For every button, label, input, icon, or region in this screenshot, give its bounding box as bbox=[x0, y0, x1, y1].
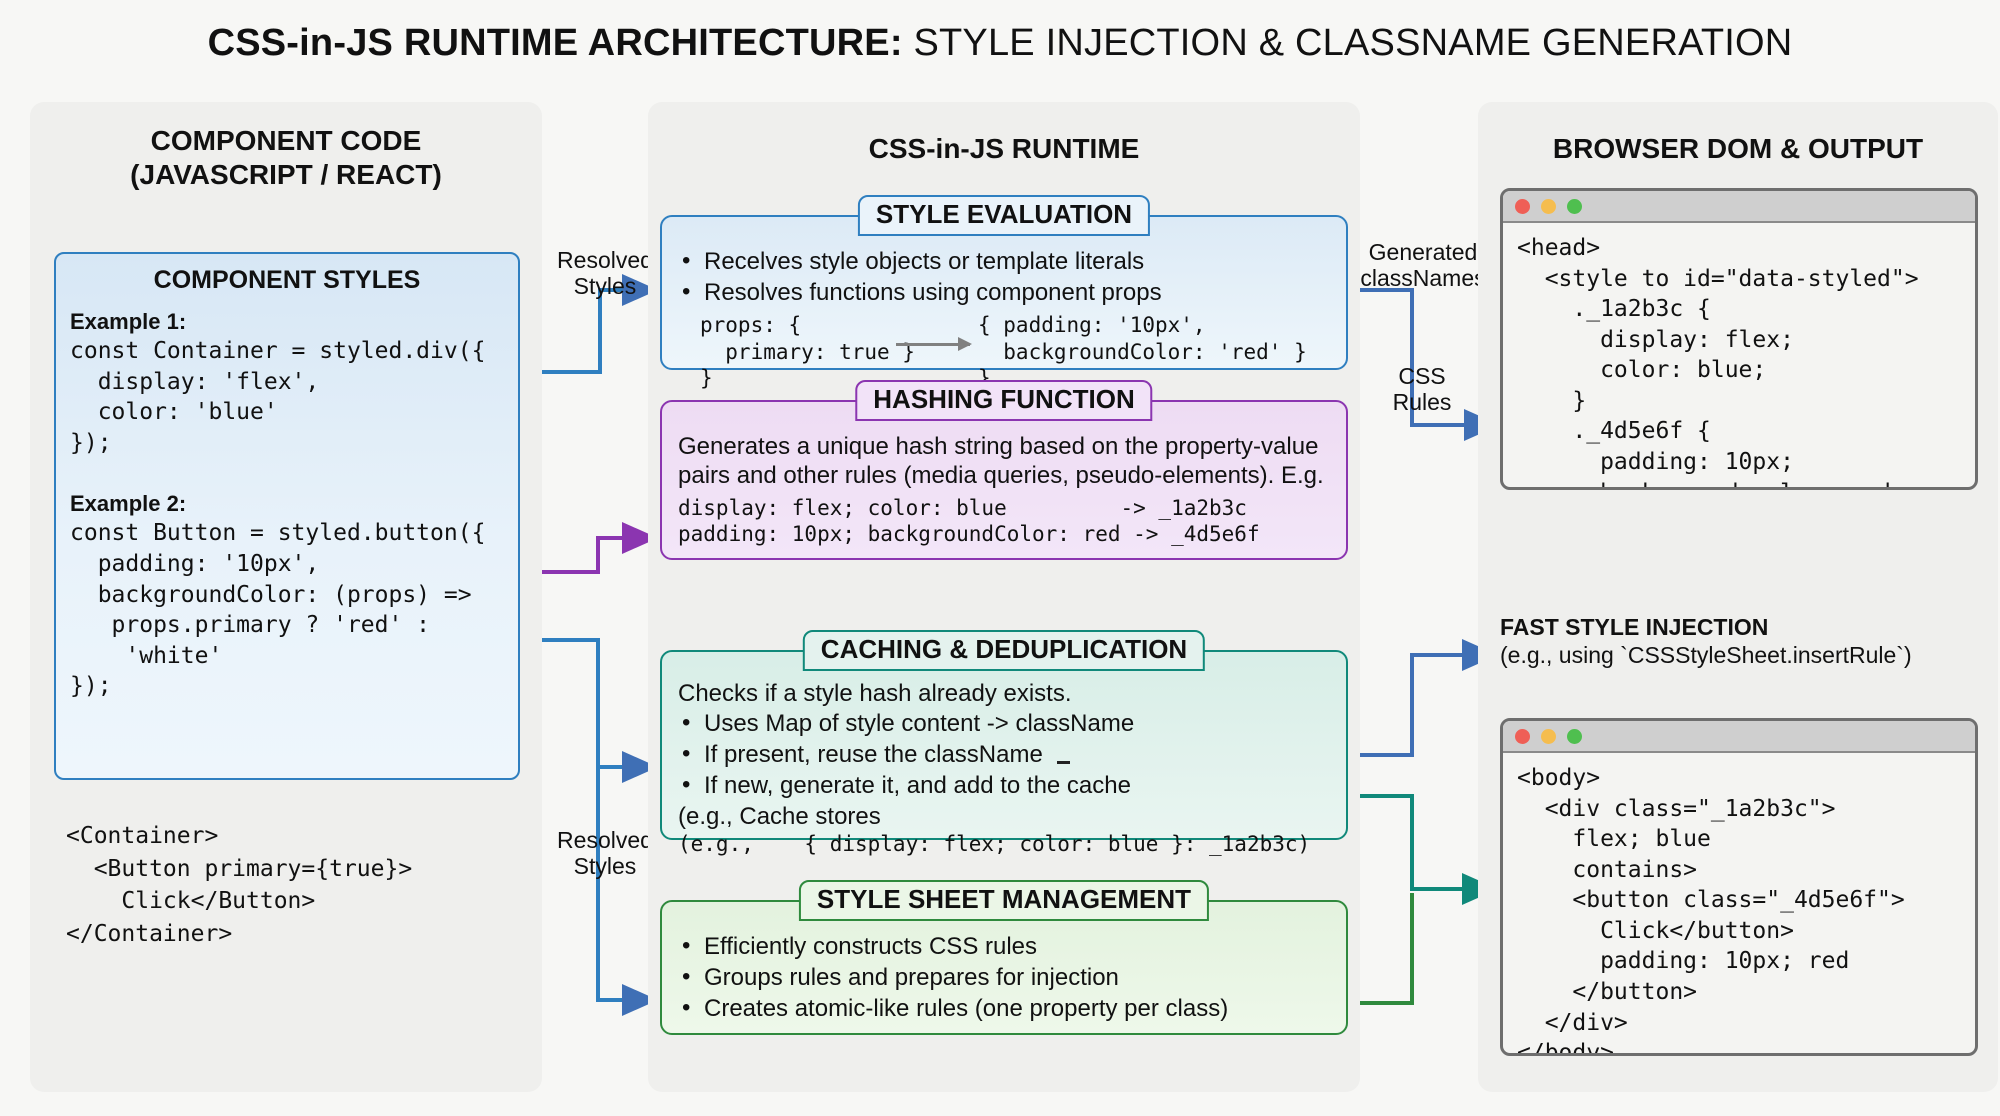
fast-style-injection-subtitle: (e.g., using `CSSStyleSheet.insertRule`) bbox=[1500, 642, 2000, 670]
list-item: Uses Map of style content -> className bbox=[700, 709, 1332, 739]
column-runtime-title: CSS-in-JS RUNTIME bbox=[648, 132, 1360, 166]
transform-arrow-icon bbox=[896, 343, 970, 346]
list-item: Groups rules and prepares for injection bbox=[700, 963, 1332, 993]
wire-label-generated-classnames: GeneratedclassNames bbox=[1348, 240, 1498, 292]
column-browser-output-title: BROWSER DOM & OUTPUT bbox=[1478, 132, 1998, 166]
window-titlebar bbox=[1503, 721, 1975, 753]
browser-window-body: <body> <div class="_1a2b3c"> flex; blue … bbox=[1500, 718, 1978, 1056]
panel-style-sheet-management-title: STYLE SHEET MANAGEMENT bbox=[799, 880, 1209, 921]
panel-caching-bullets: Uses Map of style content -> className I… bbox=[678, 709, 1332, 802]
close-dot-icon[interactable] bbox=[1515, 729, 1530, 744]
caching-note-2: (e.g., { display: flex; color: blue }: _… bbox=[678, 831, 1332, 857]
list-item: Recelves style objects or template liter… bbox=[700, 247, 1332, 277]
page-title: CSS-in-JS RUNTIME ARCHITECTURE: STYLE IN… bbox=[0, 22, 2000, 65]
close-dot-icon[interactable] bbox=[1515, 199, 1530, 214]
panel-style-evaluation-bullets: Recelves style objects or template liter… bbox=[678, 247, 1332, 308]
component-styles-heading: COMPONENT STYLES bbox=[56, 254, 518, 301]
panel-hashing-function: HASHING FUNCTION Generates a unique hash… bbox=[660, 400, 1348, 560]
jsx-usage-code: <Container> <Button primary={true}> Clic… bbox=[66, 820, 412, 951]
wire-label-css-rules: CSSRules bbox=[1362, 364, 1482, 416]
panel-caching-deduplication-title: CACHING & DEDUPLICATION bbox=[803, 630, 1205, 671]
caching-intro: Checks if a style hash already exists. bbox=[678, 680, 1332, 709]
hashing-description: Generates a unique hash string based on … bbox=[678, 432, 1332, 491]
fast-style-injection-note: FAST STYLE INJECTION (e.g., using `CSSSt… bbox=[1500, 614, 2000, 669]
panel-hashing-function-title: HASHING FUNCTION bbox=[855, 380, 1152, 421]
list-item: If new, generate it, and add to the cach… bbox=[700, 771, 1332, 801]
example1-label: Example 1: bbox=[70, 307, 518, 336]
wire-caching-to-fast-injection bbox=[1350, 655, 1492, 755]
page-title-light: STYLE INJECTION & CLASSNAME GENERATION bbox=[903, 22, 1793, 64]
minimize-dot-icon[interactable] bbox=[1541, 199, 1556, 214]
panel-style-evaluation-title: STYLE EVALUATION bbox=[858, 195, 1150, 236]
wire-caching-to-body bbox=[1350, 796, 1492, 889]
body-markup-code: <body> <div class="_1a2b3c"> flex; blue … bbox=[1503, 753, 1975, 1056]
hashing-examples: display: flex; color: blue -> _1a2b3c pa… bbox=[678, 495, 1332, 548]
list-item: Creates atomic-like rules (one property … bbox=[700, 994, 1332, 1024]
list-item: Efficiently constructs CSS rules bbox=[700, 932, 1332, 962]
list-item: Resolves functions using component props bbox=[700, 278, 1332, 308]
list-item: If present, reuse the className bbox=[700, 740, 1332, 770]
example2-code: const Button = styled.button({ padding: … bbox=[70, 520, 485, 699]
component-styles-card: COMPONENT STYLES Example 1:const Contain… bbox=[54, 252, 520, 780]
panel-caching-deduplication: CACHING & DEDUPLICATION Checks if a styl… bbox=[660, 650, 1348, 840]
panel-style-evaluation: STYLE EVALUATION Recelves style objects … bbox=[660, 215, 1348, 370]
column-component-code-title: COMPONENT CODE(JAVASCRIPT / REACT) bbox=[30, 124, 542, 191]
minimize-dot-icon[interactable] bbox=[1541, 729, 1556, 744]
example1-code: const Container = styled.div({ display: … bbox=[70, 338, 485, 456]
maximize-dot-icon[interactable] bbox=[1567, 729, 1582, 744]
strikethrough-artifact bbox=[1057, 761, 1070, 764]
panel-sheet-bullets: Efficiently constructs CSS rules Groups … bbox=[678, 932, 1332, 1025]
wire-styles-to-sheet-management bbox=[598, 767, 652, 1000]
head-markup-code: <head> <style to id="data-styled"> ._1a2… bbox=[1503, 223, 1975, 490]
page-title-strong: CSS-in-JS RUNTIME ARCHITECTURE: bbox=[208, 22, 903, 64]
panel-style-sheet-management: STYLE SHEET MANAGEMENT Efficiently const… bbox=[660, 900, 1348, 1035]
fast-style-injection-title: FAST STYLE INJECTION bbox=[1500, 614, 2000, 642]
browser-window-head: <head> <style to id="data-styled"> ._1a2… bbox=[1500, 188, 1978, 490]
example2-label: Example 2: bbox=[70, 489, 518, 518]
caching-note-1: (e.g., Cache stores bbox=[678, 803, 1332, 832]
component-styles-code: Example 1:const Container = styled.div({… bbox=[56, 301, 518, 702]
window-titlebar bbox=[1503, 191, 1975, 223]
maximize-dot-icon[interactable] bbox=[1567, 199, 1582, 214]
